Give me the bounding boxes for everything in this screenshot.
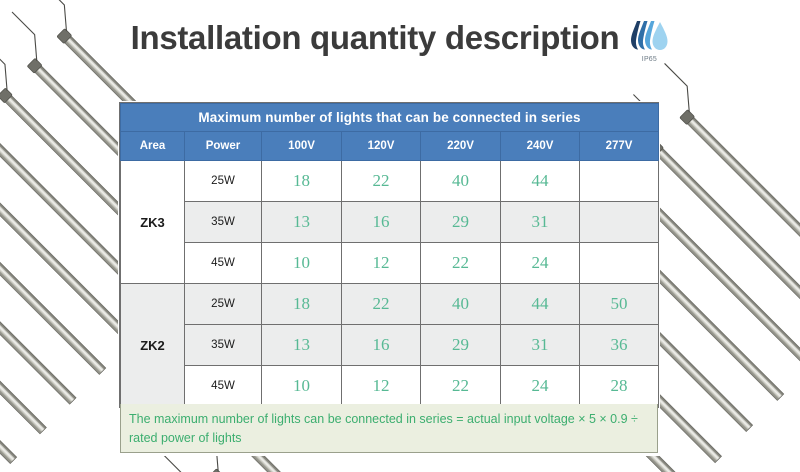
column-header-120v: 120V xyxy=(342,132,421,161)
power-cell: 35W xyxy=(185,202,262,243)
quantity-cell: 29 xyxy=(421,325,501,366)
power-cell: 25W xyxy=(185,161,262,202)
quantity-cell xyxy=(580,202,659,243)
power-cell: 45W xyxy=(185,366,262,407)
table-row: 45W10122224 xyxy=(121,243,659,284)
table-row: 35W1316293136 xyxy=(121,325,659,366)
quantity-cell: 24 xyxy=(501,243,580,284)
column-header-100v: 100V xyxy=(262,132,342,161)
quantity-cell: 22 xyxy=(421,243,501,284)
table-row: 35W13162931 xyxy=(121,202,659,243)
power-cell: 35W xyxy=(185,325,262,366)
column-header-277v: 277V xyxy=(580,132,659,161)
series-quantity-table: Maximum number of lights that can be con… xyxy=(120,103,659,407)
area-cell-zk3: ZK3 xyxy=(121,161,185,284)
table-row: ZK325W18224044 xyxy=(121,161,659,202)
quantity-cell: 16 xyxy=(342,202,421,243)
quantity-cell: 24 xyxy=(501,366,580,407)
quantity-cell: 36 xyxy=(580,325,659,366)
power-cell: 45W xyxy=(185,243,262,284)
quantity-cell: 40 xyxy=(421,161,501,202)
column-header-240v: 240V xyxy=(501,132,580,161)
quantity-cell: 18 xyxy=(262,161,342,202)
quantity-cell: 50 xyxy=(580,284,659,325)
column-header-area: Area xyxy=(121,132,185,161)
quantity-cell: 22 xyxy=(421,366,501,407)
quantity-cell: 29 xyxy=(421,202,501,243)
quantity-cell: 10 xyxy=(262,243,342,284)
quantity-cell: 16 xyxy=(342,325,421,366)
table-row: 45W1012222428 xyxy=(121,366,659,407)
column-header-power: Power xyxy=(185,132,262,161)
ip65-badge: IP65 xyxy=(629,18,669,62)
quantity-cell: 12 xyxy=(342,243,421,284)
quantity-cell: 10 xyxy=(262,366,342,407)
quantity-cell: 31 xyxy=(501,202,580,243)
table-caption: Maximum number of lights that can be con… xyxy=(121,104,659,132)
quantity-cell: 44 xyxy=(501,161,580,202)
quantity-cell xyxy=(580,161,659,202)
quantity-cell: 22 xyxy=(342,161,421,202)
quantity-cell: 13 xyxy=(262,202,342,243)
water-drops-icon xyxy=(629,18,669,54)
page-title: Installation quantity description xyxy=(131,19,620,57)
power-cell: 25W xyxy=(185,284,262,325)
column-header-220v: 220V xyxy=(421,132,501,161)
quantity-cell: 40 xyxy=(421,284,501,325)
quantity-cell: 28 xyxy=(580,366,659,407)
series-quantity-table-container: Maximum number of lights that can be con… xyxy=(120,103,658,407)
quantity-cell: 12 xyxy=(342,366,421,407)
quantity-cell xyxy=(580,243,659,284)
area-cell-zk2: ZK2 xyxy=(121,284,185,407)
quantity-cell: 13 xyxy=(262,325,342,366)
table-caption-row: Maximum number of lights that can be con… xyxy=(121,104,659,132)
table-row: ZK225W1822404450 xyxy=(121,284,659,325)
quantity-cell: 31 xyxy=(501,325,580,366)
quantity-cell: 44 xyxy=(501,284,580,325)
quantity-cell: 22 xyxy=(342,284,421,325)
quantity-cell: 18 xyxy=(262,284,342,325)
ip65-label: IP65 xyxy=(629,56,669,63)
table-column-header-row: AreaPower100V120V220V240V277V xyxy=(121,132,659,161)
table-body: ZK325W1822404435W1316293145W10122224ZK22… xyxy=(121,161,659,407)
formula-note: The maximum number of lights can be conn… xyxy=(120,404,658,453)
page-header: Installation quantity description IP65 xyxy=(0,10,800,66)
